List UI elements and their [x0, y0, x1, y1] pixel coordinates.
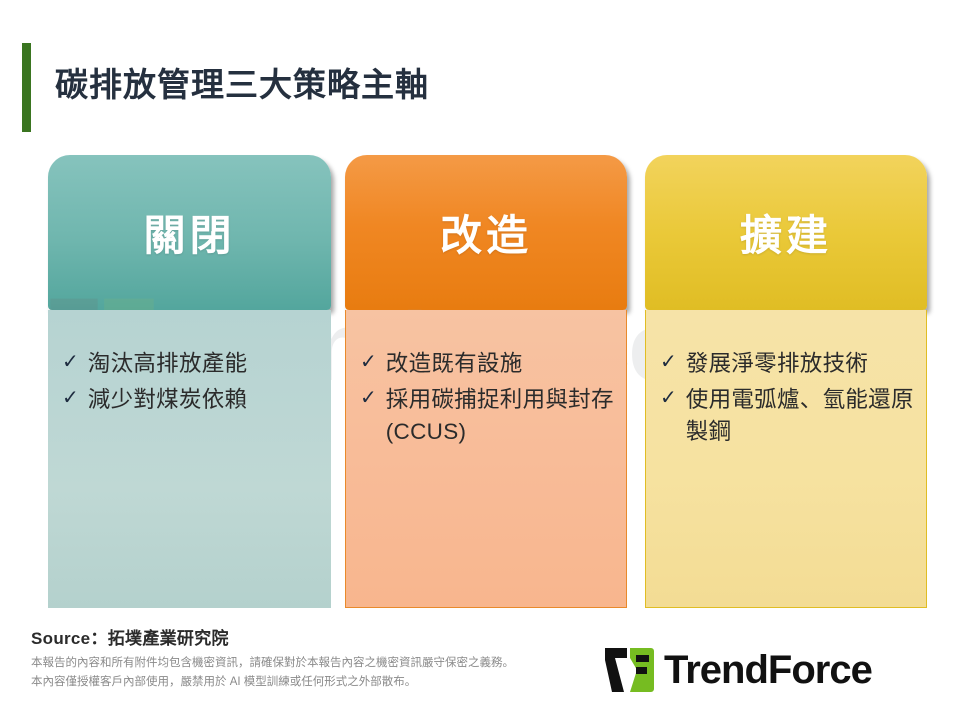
list-item: ✓ 減少對煤炭依賴 [62, 384, 321, 416]
check-icon: ✓ [360, 384, 377, 413]
trendforce-logo-mark-icon [603, 646, 655, 694]
list-item: ✓ 改造既有設施 [360, 348, 616, 380]
check-icon: ✓ [62, 348, 79, 377]
check-icon: ✓ [360, 348, 377, 377]
trendforce-logo-text: TrendForce [664, 650, 872, 690]
list-item: ✓ 發展淨零排放技術 [660, 348, 916, 380]
bullet-text: 採用碳捕捉利用與封存(CCUS) [386, 384, 616, 448]
bullet-list: ✓ 改造既有設施 ✓ 採用碳捕捉利用與封存(CCUS) [360, 348, 616, 448]
bullet-list: ✓ 淘汰高排放產能 ✓ 減少對煤炭依賴 [62, 348, 321, 416]
check-icon: ✓ [660, 348, 677, 377]
card-header-label: 關閉 [143, 202, 235, 263]
strategy-card-retrofit[interactable]: 改造 ✓ 改造既有設施 ✓ 採用碳捕捉利用與封存(CCUS) [345, 155, 627, 608]
card-header-expansion: 擴建 [645, 155, 927, 310]
card-body-shutdown: ✓ 淘汰高排放產能 ✓ 減少對煤炭依賴 [48, 310, 331, 608]
bullet-text: 使用電弧爐、氫能還原製鋼 [686, 384, 916, 448]
source-label: Source：拓墣產業研究院 [31, 624, 229, 649]
bullet-text: 發展淨零排放技術 [686, 348, 868, 380]
list-item: ✓ 使用電弧爐、氫能還原製鋼 [660, 384, 916, 448]
check-icon: ✓ [660, 384, 677, 413]
strategy-card-expansion[interactable]: 擴建 ✓ 發展淨零排放技術 ✓ 使用電弧爐、氫能還原製鋼 [645, 155, 927, 608]
card-body-retrofit: ✓ 改造既有設施 ✓ 採用碳捕捉利用與封存(CCUS) [345, 310, 627, 608]
disclaimer-line-1: 本報告的內容和所有附件均包含機密資訊，請確保對於本報告內容之機密資訊嚴守保密之義… [31, 654, 514, 673]
card-header-shutdown: 關閉 [48, 155, 331, 310]
bullet-text: 減少對煤炭依賴 [88, 384, 248, 416]
disclaimer-text: 本報告的內容和所有附件均包含機密資訊，請確保對於本報告內容之機密資訊嚴守保密之義… [31, 654, 514, 692]
list-item: ✓ 淘汰高排放產能 [62, 348, 321, 380]
card-body-expansion: ✓ 發展淨零排放技術 ✓ 使用電弧爐、氫能還原製鋼 [645, 310, 927, 608]
trendforce-logo: TrendForce [603, 646, 872, 694]
strategy-cards: 關閉 ✓ 淘汰高排放產能 ✓ 減少對煤炭依賴 改造 ✓ 改造既 [0, 0, 960, 720]
bullet-list: ✓ 發展淨零排放技術 ✓ 使用電弧爐、氫能還原製鋼 [660, 348, 916, 448]
strategy-card-shutdown[interactable]: 關閉 ✓ 淘汰高排放產能 ✓ 減少對煤炭依賴 [48, 155, 331, 608]
list-item: ✓ 採用碳捕捉利用與封存(CCUS) [360, 384, 616, 448]
card-header-label: 改造 [440, 202, 532, 263]
check-icon: ✓ [62, 384, 79, 413]
disclaimer-line-2: 本內容僅授權客戶內部使用，嚴禁用於 AI 模型訓練或任何形式之外部散布。 [31, 673, 514, 692]
card-header-label: 擴建 [740, 202, 832, 263]
bullet-text: 改造既有設施 [386, 348, 523, 380]
card-header-retrofit: 改造 [345, 155, 627, 310]
bullet-text: 淘汰高排放產能 [88, 348, 248, 380]
